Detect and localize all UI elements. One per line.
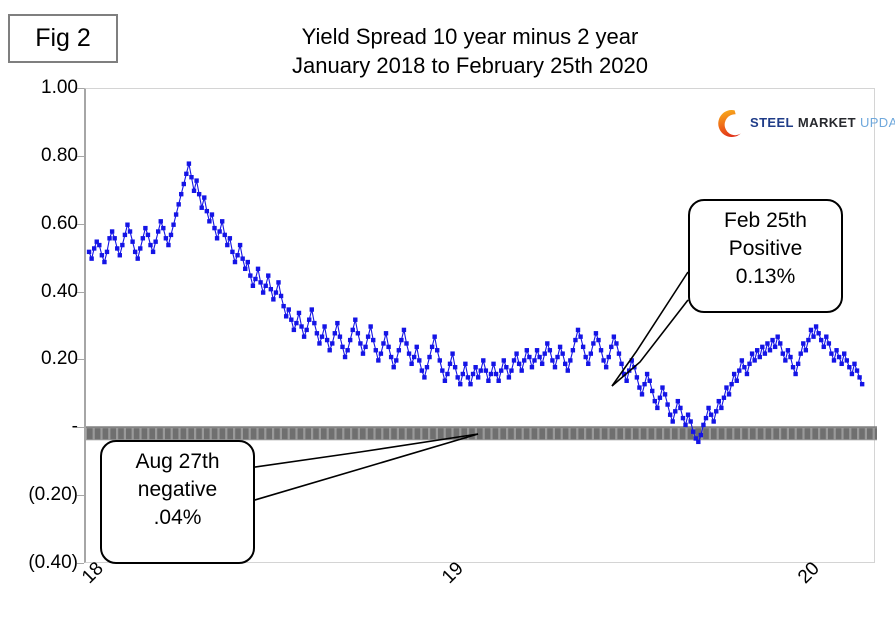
- y-axis-tick-label: 0.20: [4, 348, 78, 370]
- y-axis-tick-mark: [77, 88, 84, 89]
- y-axis-tick-mark: [77, 156, 84, 157]
- chart-title-line1: Yield Spread 10 year minus 2 year: [180, 22, 760, 51]
- chart-title-block: Yield Spread 10 year minus 2 year Januar…: [180, 22, 760, 80]
- callout-feb-25-positive: Feb 25th Positive 0.13%: [688, 199, 843, 313]
- logo-word-update: UPDATE: [860, 115, 895, 130]
- logo-wordmark: STEEL MARKET UPDATE: [750, 115, 895, 130]
- y-axis-tick-label: (0.20): [4, 484, 78, 506]
- y-axis-tick-mark: [77, 495, 84, 496]
- callout-feb-line3: 0.13%: [690, 263, 841, 291]
- y-axis-tick-mark: [77, 224, 84, 225]
- chart-subtitle-line2: January 2018 to February 25th 2020: [180, 51, 760, 80]
- y-axis-tick-label: (0.40): [4, 552, 78, 574]
- logo-word-steel: STEEL: [750, 115, 794, 130]
- y-axis-tick-label: 0.40: [4, 281, 78, 303]
- callout-feb-line2: Positive: [690, 235, 841, 263]
- callout-aug-line1: Aug 27th: [102, 448, 253, 476]
- callout-aug-line3: .04%: [102, 504, 253, 532]
- logo-word-market: MARKET: [798, 115, 856, 130]
- y-axis-tick-label: 1.00: [4, 77, 78, 99]
- zero-reference-band: [86, 426, 877, 440]
- y-axis-tick-mark: [77, 427, 84, 428]
- y-axis-labels: 1.000.800.600.400.20-(0.20)(0.40): [0, 0, 78, 622]
- y-axis-tick-label: 0.80: [4, 145, 78, 167]
- callout-aug-line2: negative: [102, 476, 253, 504]
- logo-steel-market-update: STEEL MARKET UPDATE: [710, 107, 862, 141]
- y-axis-tick-mark: [77, 359, 84, 360]
- y-axis-tick-mark: [77, 292, 84, 293]
- callout-feb-line1: Feb 25th: [690, 207, 841, 235]
- callout-aug-27-negative: Aug 27th negative .04%: [100, 440, 255, 564]
- y-axis-tick-mark: [77, 563, 84, 564]
- y-axis-tick-label: 0.60: [4, 213, 78, 235]
- steel-market-update-crescent-icon: [710, 107, 750, 141]
- chart-page: Fig 2 Yield Spread 10 year minus 2 year …: [0, 0, 895, 622]
- y-axis-tick-label: -: [4, 416, 78, 438]
